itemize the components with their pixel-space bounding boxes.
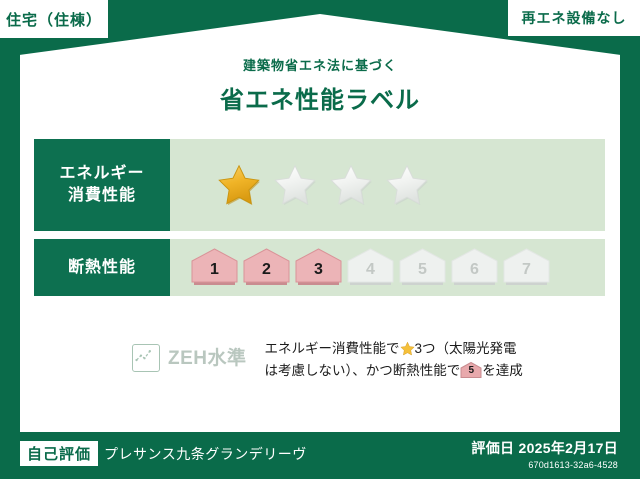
evaluation-date: 評価日 2025年2月17日	[471, 438, 618, 458]
star-icon-filled	[216, 163, 262, 207]
zeh-standard-block: ZEH水準 エネルギー消費性能で3つ（太陽光発電 は考慮しない）、かつ断熱性能で…	[132, 338, 523, 382]
star-icon-empty	[328, 163, 374, 207]
zeh-desc-line2-b: を達成	[482, 363, 523, 378]
insulation-level-empty: 6	[450, 247, 499, 288]
insulation-level-scale: 1234567	[170, 247, 551, 288]
insulation-level-filled: 1	[190, 247, 239, 288]
insulation-level-filled: 3	[294, 247, 343, 288]
zeh-desc-house-number: 5	[460, 366, 482, 376]
zeh-desc-line2-a: は考慮しない）、かつ断熱性能で	[265, 363, 461, 378]
insulation-level-number: 5	[398, 262, 447, 278]
evaluation-id: 670d1613-32a6-4528	[471, 460, 618, 470]
row-insulation-label: 断熱性能	[34, 239, 170, 296]
insulation-level-filled: 2	[242, 247, 291, 288]
row-insulation-body: 1234567	[170, 239, 605, 296]
zeh-description-line2: は考慮しない）、かつ断熱性能で5を達成	[265, 360, 523, 382]
energy-label-card: 住宅（住棟） 再エネ設備なし 建築物省エネ法に基づく 省エネ性能ラベル エネルギ…	[0, 0, 640, 479]
house-icon: 5	[460, 361, 482, 379]
tag-renewable-energy: 再エネ設備なし	[508, 0, 640, 36]
zeh-description: エネルギー消費性能で3つ（太陽光発電 は考慮しない）、かつ断熱性能で5を達成	[265, 338, 523, 382]
star-rating	[170, 163, 430, 207]
star-icon	[400, 341, 415, 356]
zeh-desc-line1-a: エネルギー消費性能で	[265, 341, 400, 356]
building-name: プレサンス九条グランデリーヴ	[104, 444, 307, 464]
row-energy-body	[170, 139, 605, 231]
zeh-label: ZEH水準	[168, 343, 247, 370]
footer-right: 評価日 2025年2月17日 670d1613-32a6-4528	[471, 438, 618, 470]
zeh-chart-icon	[132, 344, 160, 372]
row-insulation-performance: 断熱性能 1234567	[34, 239, 605, 296]
insulation-level-empty: 4	[346, 247, 395, 288]
insulation-level-number: 4	[346, 262, 395, 278]
zeh-desc-line1-b: 3つ（太陽光発電	[415, 341, 517, 356]
footer-left: 自己評価 プレサンス九条グランデリーヴ	[20, 441, 307, 466]
insulation-level-number: 6	[450, 262, 499, 278]
card-footer: 自己評価 プレサンス九条グランデリーヴ 評価日 2025年2月17日 670d1…	[0, 432, 640, 479]
insulation-level-number: 1	[190, 262, 239, 278]
insulation-level-number: 7	[502, 262, 551, 278]
tag-building-type: 住宅（住棟）	[0, 0, 108, 38]
star-icon-empty	[384, 163, 430, 207]
self-evaluation-badge: 自己評価	[20, 441, 98, 466]
insulation-level-empty: 5	[398, 247, 447, 288]
row-energy-label-line2: 消費性能	[68, 187, 136, 204]
zeh-description-line1: エネルギー消費性能で3つ（太陽光発電	[265, 338, 523, 360]
insulation-level-number: 3	[294, 262, 343, 278]
row-energy-performance: エネルギー 消費性能	[34, 139, 605, 231]
insulation-level-number: 2	[242, 262, 291, 278]
insulation-level-empty: 7	[502, 247, 551, 288]
star-icon-empty	[272, 163, 318, 207]
row-energy-label-line1: エネルギー	[59, 165, 144, 182]
row-energy-label: エネルギー 消費性能	[34, 139, 170, 231]
